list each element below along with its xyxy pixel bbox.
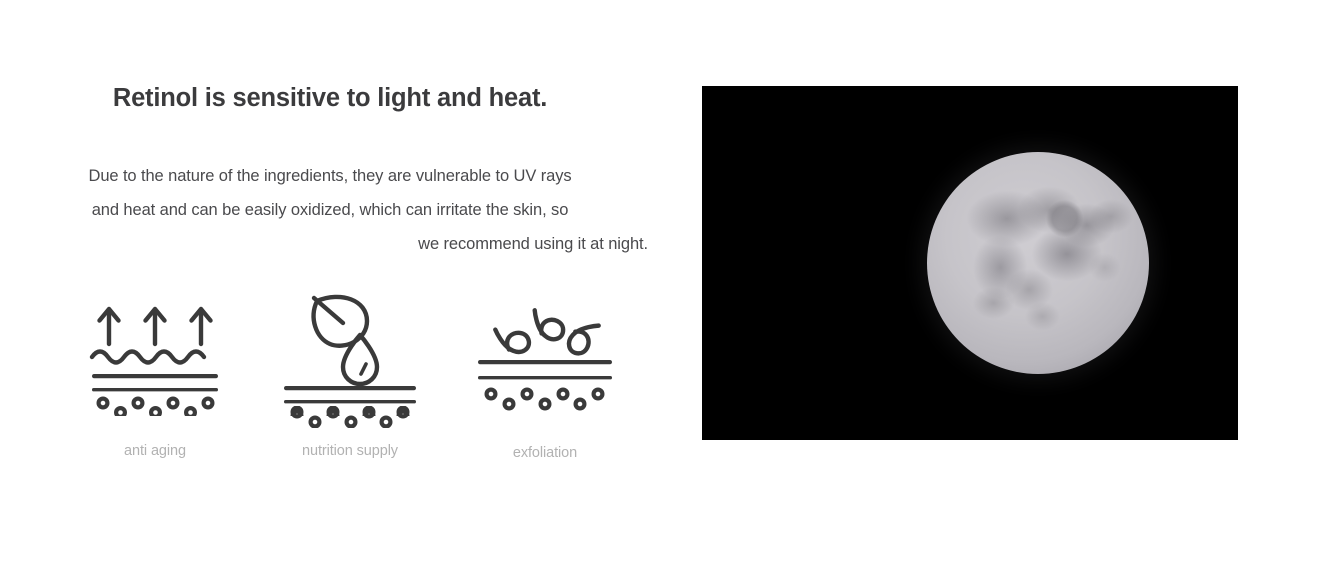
section-body: Due to the nature of the ingredients, th… (0, 159, 660, 261)
moon-disc (927, 152, 1149, 374)
skin-line-upper (478, 360, 612, 364)
skin-line-upper (284, 386, 416, 390)
benefit-label-anti-aging: anti aging (55, 443, 255, 459)
skin-line-upper (92, 374, 218, 378)
benefit-icon-row: anti aging (60, 288, 660, 478)
benefit-item-anti-aging: anti aging (55, 288, 255, 478)
leaf-droplet-lower-cells (281, 406, 419, 428)
flake-right (567, 321, 598, 356)
skin-line-lower (92, 388, 218, 391)
benefit-item-nutrition-supply: nutrition supply (250, 288, 450, 478)
flake-middle (531, 310, 565, 340)
text-column: Retinol is sensitive to light and heat. … (0, 0, 700, 579)
droplet-highlight (361, 364, 366, 374)
body-line-3: we recommend using it at night. (0, 227, 660, 261)
body-line-1: Due to the nature of the ingredients, th… (0, 159, 660, 193)
benefit-label-exfoliation: exfoliation (445, 445, 645, 461)
skin-cells (99, 399, 213, 416)
benefit-item-exfoliation: exfoliation (445, 288, 645, 478)
skin-layers-arrows-icon (89, 298, 221, 416)
flakes-skin-icon (475, 298, 615, 420)
leaf-vein (314, 298, 343, 323)
retinol-info-section: Retinol is sensitive to light and heat. … (0, 0, 1318, 579)
section-heading: Retinol is sensitive to light and heat. (0, 83, 660, 113)
full-moon-photo (702, 86, 1238, 440)
body-line-2: and heat and can be easily oxidized, whi… (0, 193, 660, 227)
skin-line-lower (284, 400, 416, 403)
flake-left (495, 324, 530, 355)
leaf-droplet-skin-icon (281, 288, 419, 416)
skin-cells (487, 390, 603, 409)
benefit-label-nutrition-supply: nutrition supply (250, 443, 450, 459)
skin-line-lower (478, 376, 612, 379)
